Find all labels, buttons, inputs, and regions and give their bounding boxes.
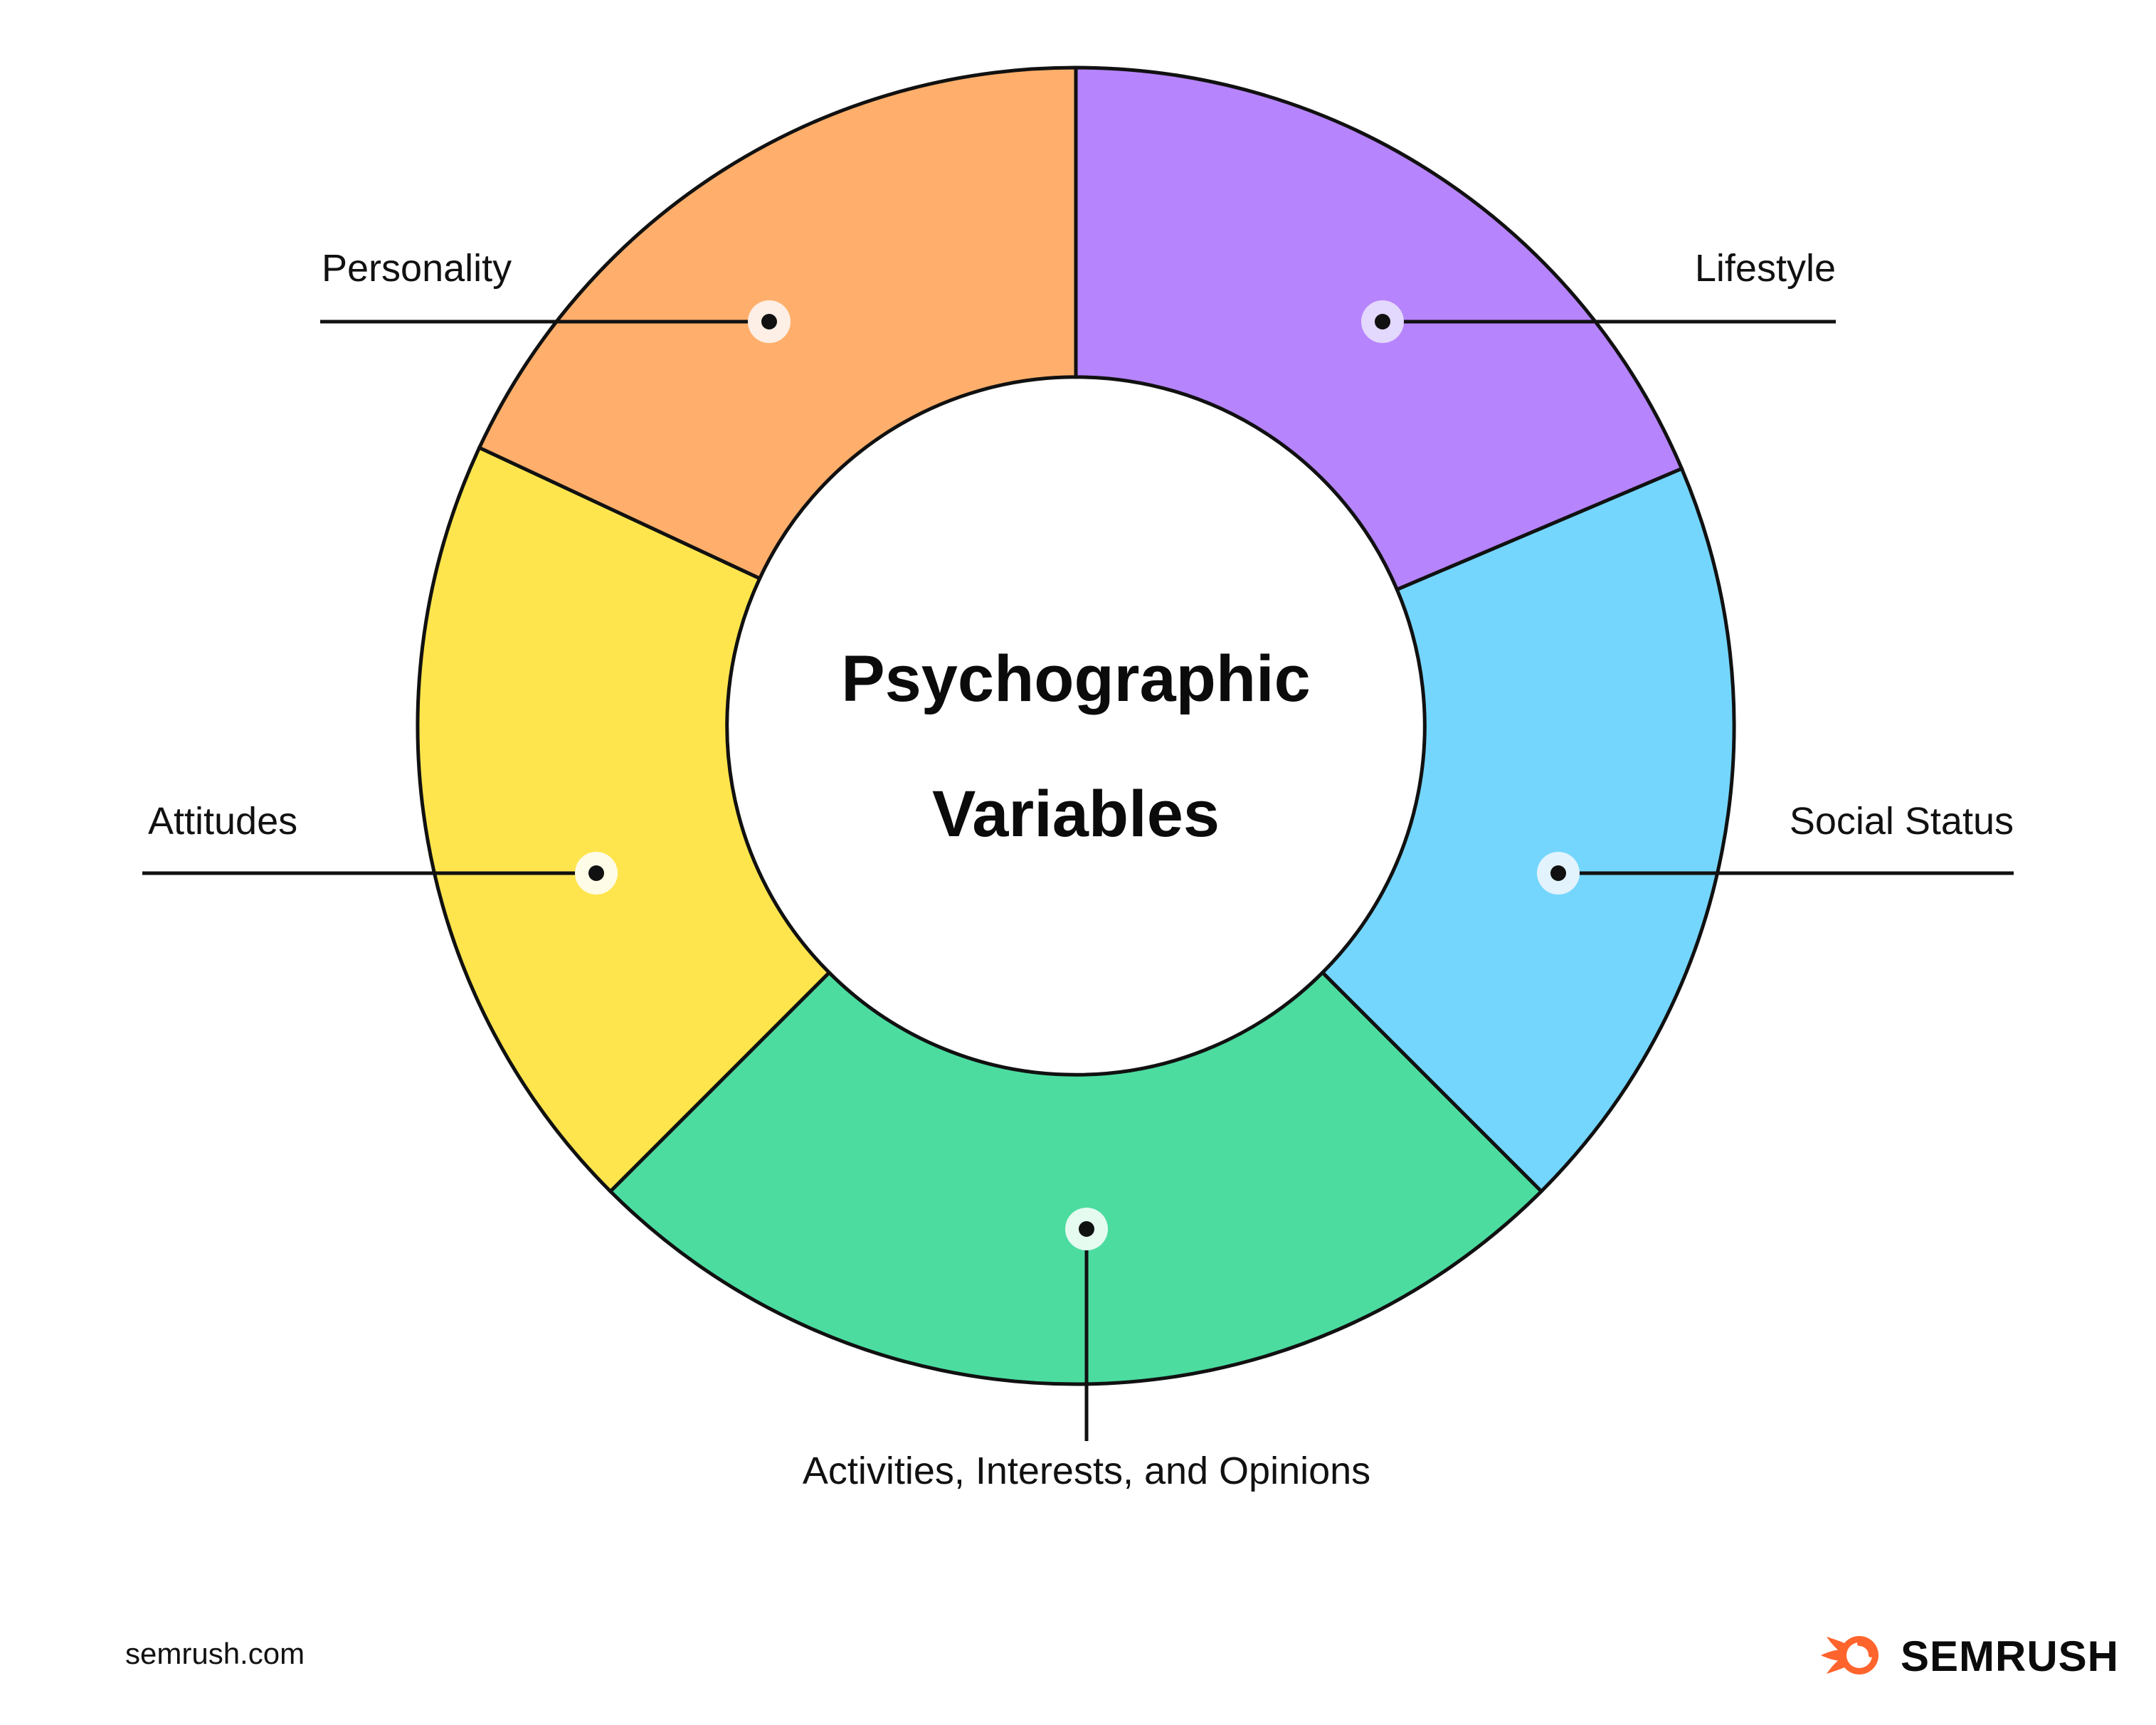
semrush-comet-icon <box>1817 1628 1885 1684</box>
semrush-wordmark: SEMRUSH <box>1901 1632 2119 1681</box>
marker-aio[interactable] <box>1065 1208 1108 1250</box>
semrush-logo[interactable]: SEMRUSH <box>1817 1628 2119 1684</box>
marker-social-status[interactable] <box>1537 852 1580 895</box>
marker-personality[interactable] <box>748 300 791 343</box>
marker-attitudes[interactable] <box>575 852 618 895</box>
label-social-status: Social Status <box>1790 802 2014 840</box>
center-title-line2: Variables <box>932 778 1220 850</box>
label-lifestyle: Lifestyle <box>1695 249 1836 287</box>
center-title-line1: Psychographic <box>841 643 1311 715</box>
footer-url[interactable]: semrush.com <box>125 1637 305 1671</box>
donut-segments <box>418 68 1734 1384</box>
marker-lifestyle[interactable] <box>1361 300 1404 343</box>
label-personality: Personality <box>322 249 512 287</box>
label-activities-interests-opinions: Activities, Interests, and Opinions <box>803 1452 1370 1490</box>
label-attitudes: Attitudes <box>148 802 297 840</box>
diagram-canvas: Psychographic Variables Personality Life… <box>0 0 2156 1725</box>
center-title: Psychographic Variables <box>841 643 1311 850</box>
